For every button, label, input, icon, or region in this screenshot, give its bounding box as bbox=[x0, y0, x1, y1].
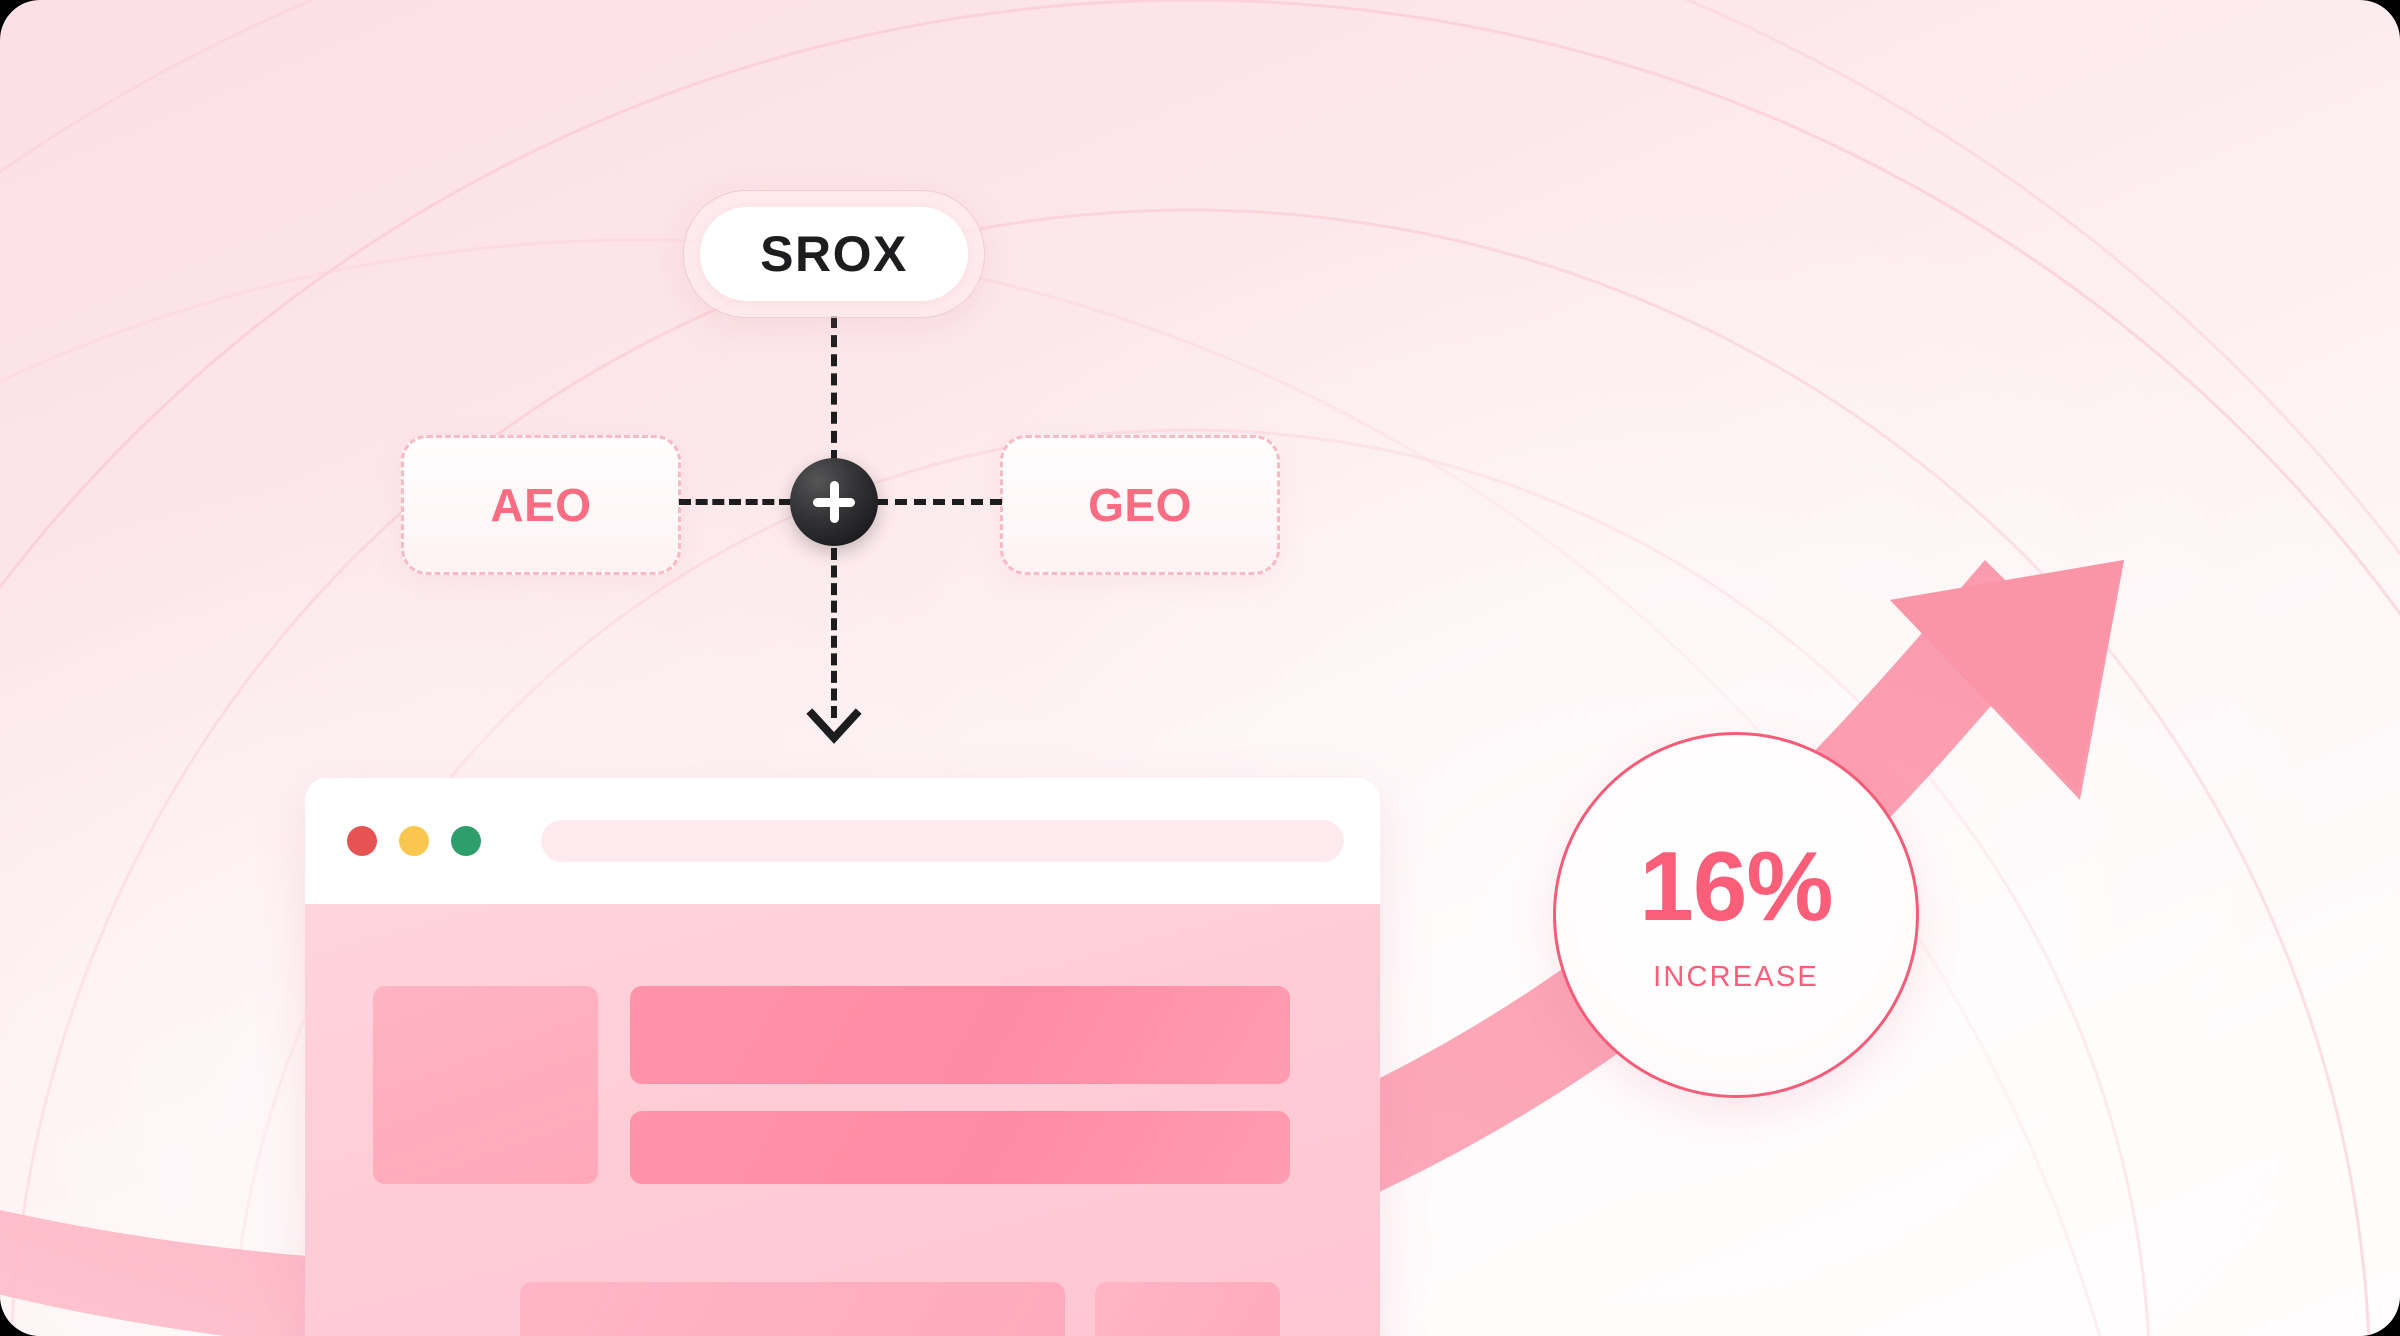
increase-badge-value: 16% bbox=[1639, 837, 1832, 935]
url-input[interactable] bbox=[541, 820, 1344, 862]
connector-aeo-to-operator bbox=[679, 499, 791, 505]
illustration-canvas: SROX AEO GEO bbox=[0, 0, 2400, 1336]
plus-icon-vertical-bar bbox=[830, 481, 839, 523]
connector-srox-to-operator bbox=[831, 316, 837, 462]
browser-viewport bbox=[305, 904, 1380, 1336]
connector-operator-to-geo bbox=[876, 499, 1002, 505]
content-thumbnail-block bbox=[373, 986, 598, 1184]
content-footer-bar-wide bbox=[520, 1282, 1065, 1336]
srox-node-label: SROX bbox=[760, 225, 908, 283]
close-icon[interactable] bbox=[347, 826, 377, 856]
increase-badge-caption: INCREASE bbox=[1653, 961, 1819, 994]
geo-node[interactable]: GEO bbox=[1000, 435, 1280, 575]
increase-badge: 16% INCREASE bbox=[1553, 732, 1919, 1098]
content-headline-bar bbox=[630, 986, 1290, 1084]
chevron-down-icon bbox=[806, 706, 862, 750]
aeo-node-label: AEO bbox=[490, 478, 591, 532]
content-subheadline-bar bbox=[630, 1111, 1290, 1184]
geo-node-label: GEO bbox=[1088, 478, 1192, 532]
srox-node[interactable]: SROX bbox=[683, 190, 985, 318]
srox-node-inner: SROX bbox=[700, 207, 968, 301]
aeo-node[interactable]: AEO bbox=[401, 435, 681, 575]
content-footer-bar-narrow bbox=[1095, 1282, 1280, 1336]
connector-operator-to-browser bbox=[831, 548, 837, 718]
maximize-icon[interactable] bbox=[451, 826, 481, 856]
plus-icon[interactable] bbox=[790, 458, 878, 546]
browser-window bbox=[305, 778, 1380, 1336]
browser-title-bar bbox=[305, 778, 1380, 904]
minimize-icon[interactable] bbox=[399, 826, 429, 856]
